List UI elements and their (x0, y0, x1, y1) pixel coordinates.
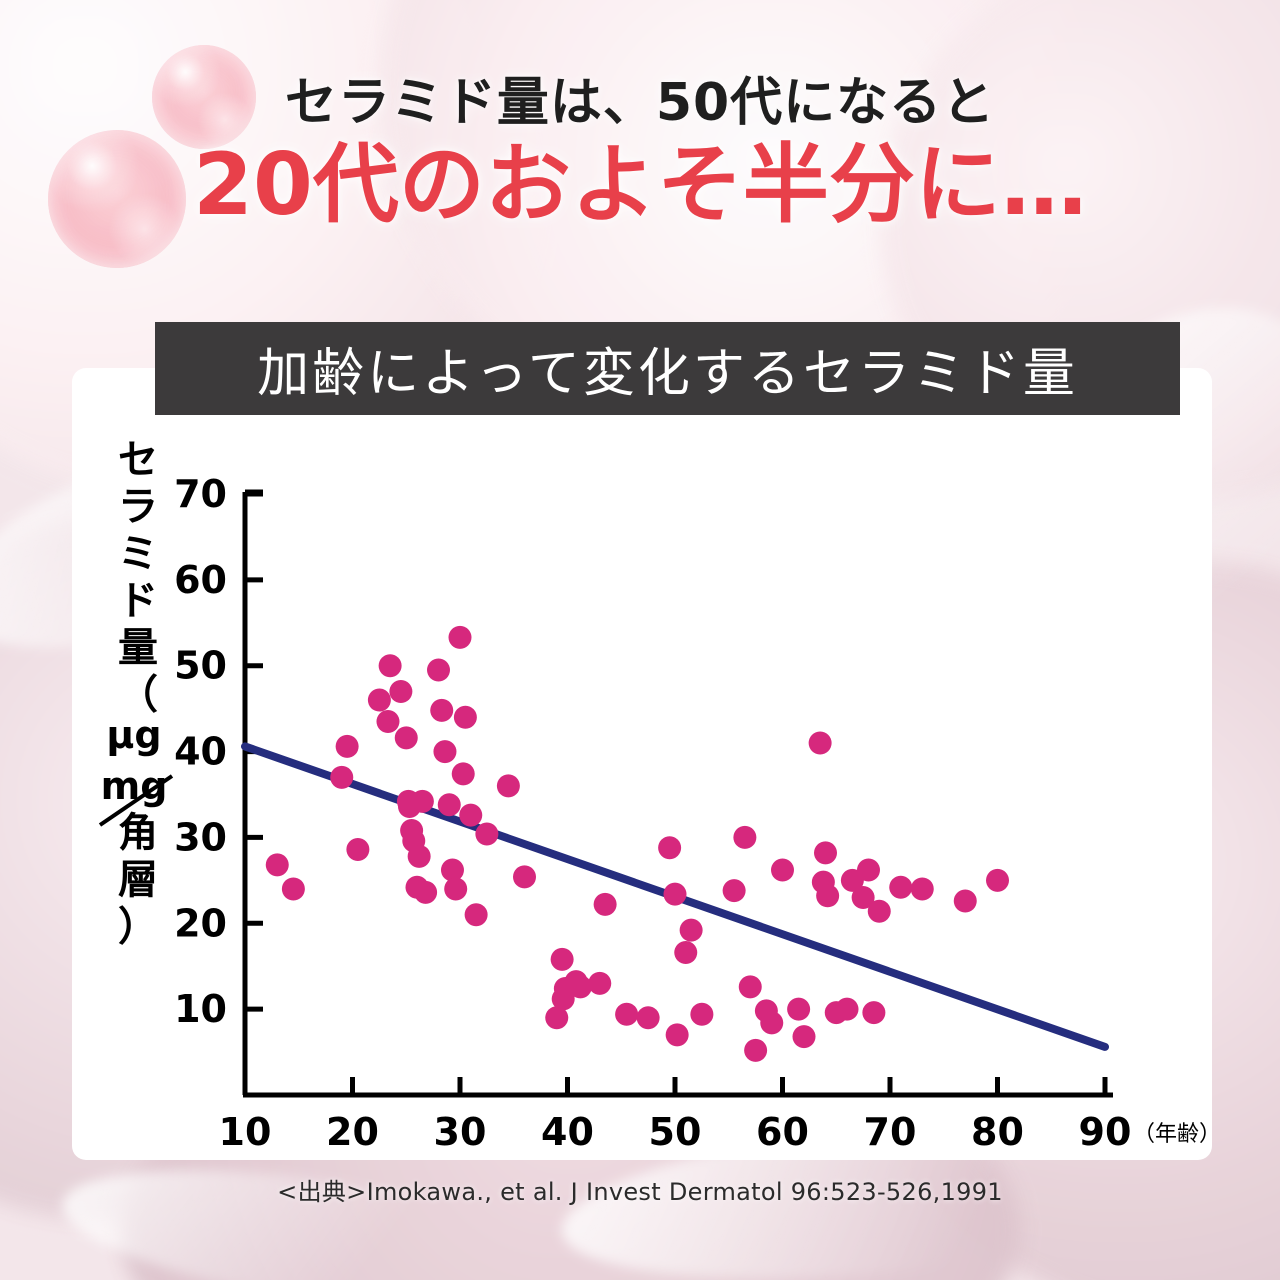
scatter-point (454, 706, 477, 729)
scatter-point (330, 766, 353, 789)
scatter-point (744, 1039, 767, 1062)
scatter-point (658, 836, 681, 859)
x-tick-label-70: 70 (864, 1110, 917, 1154)
scatter-point (666, 1023, 689, 1046)
scatter-point (551, 948, 574, 971)
scatter-point (809, 731, 832, 754)
scatter-point (444, 877, 467, 900)
scatter-point (868, 900, 891, 923)
scatter-point (513, 865, 536, 888)
scatter-point (389, 680, 412, 703)
scatter-point (857, 859, 880, 882)
scatter-point (615, 1003, 638, 1026)
y-tick-label-30: 30 (174, 815, 227, 859)
headline-line-2: 20代のおよそ半分に… (0, 139, 1280, 232)
scatter-point (680, 919, 703, 942)
y-axis-title: セラミド量（μgmg角層） (100, 437, 172, 950)
scatter-point (430, 699, 453, 722)
x-tick-label-90: 90 (1079, 1110, 1132, 1154)
scatter-point (836, 998, 859, 1021)
scatter-point (739, 975, 762, 998)
scatter-point (411, 790, 434, 813)
scatter-point (282, 877, 305, 900)
y-tick-label-10: 10 (174, 987, 227, 1031)
y-tick-label-50: 50 (174, 644, 227, 688)
headline-line-1: セラミド量は、50代になると (0, 76, 1280, 131)
y-tick-label-40: 40 (174, 730, 227, 774)
y-axis-title-char-0: セ (118, 437, 158, 483)
scatter-point (664, 883, 687, 906)
scatter-point (395, 726, 418, 749)
scatter-point (427, 659, 450, 682)
x-tick-label-40: 40 (541, 1110, 594, 1154)
x-axis-unit-label: （年齢） (1133, 1122, 1212, 1147)
scatter-point (459, 804, 482, 827)
scatter-point (787, 998, 810, 1021)
scatter-point (452, 762, 475, 785)
y-axis-title-char-9: 層 (118, 857, 158, 903)
scatter-point (336, 735, 359, 758)
scatter-point (954, 889, 977, 912)
y-axis-title-char-1: ラ (118, 484, 158, 530)
scatter-point (408, 845, 431, 868)
scatter-point (569, 975, 592, 998)
headline-block: セラミド量は、50代になると 20代のおよそ半分に… (0, 76, 1280, 231)
scatter-point (266, 853, 289, 876)
y-tick-label-70: 70 (174, 472, 227, 516)
scatter-point (346, 838, 369, 861)
y-axis-title-char-2: ミ (118, 531, 158, 577)
x-tick-label-50: 50 (649, 1110, 702, 1154)
scatter-point (816, 884, 839, 907)
scatter-point (760, 1011, 783, 1034)
scatter-point (497, 774, 520, 797)
scatter-point (594, 893, 617, 916)
y-axis-title-char-10: ） (118, 904, 158, 950)
scatter-point (814, 841, 837, 864)
scatter-point (379, 654, 402, 677)
y-axis-title-char-8: 角 (118, 810, 158, 856)
scatter-point (433, 740, 456, 763)
scatter-point (690, 1003, 713, 1026)
scatter-point (723, 879, 746, 902)
scatter-point (637, 1006, 660, 1029)
scatter-plot-svg: 10203040506070102030405060708090（年齢）セラミド… (72, 368, 1212, 1160)
scatter-point (414, 881, 437, 904)
x-tick-label-20: 20 (326, 1110, 379, 1154)
scatter-point (986, 869, 1009, 892)
scatter-chart: 10203040506070102030405060708090（年齢）セラミド… (72, 368, 1212, 1160)
scatter-point (911, 877, 934, 900)
x-tick-label-10: 10 (219, 1110, 272, 1154)
x-tick-label-30: 30 (434, 1110, 487, 1154)
y-axis-title-char-6: μg (106, 713, 161, 757)
scatter-point (793, 1025, 816, 1048)
scatter-point (674, 941, 697, 964)
y-axis-title-char-4: 量 (118, 625, 158, 671)
scatter-point (889, 876, 912, 899)
scatter-point (438, 793, 461, 816)
scatter-point (449, 626, 472, 649)
y-axis-title-char-3: ド (118, 578, 158, 624)
scatter-point (733, 826, 756, 849)
x-tick-label-60: 60 (756, 1110, 809, 1154)
scatter-points-group (266, 626, 1009, 1062)
scatter-point (475, 822, 498, 845)
y-axis-title-char-5: （ (118, 672, 158, 718)
scatter-point (588, 972, 611, 995)
scatter-point (368, 689, 391, 712)
scatter-point (465, 903, 488, 926)
scatter-point (862, 1001, 885, 1024)
x-tick-label-80: 80 (971, 1110, 1024, 1154)
scatter-point (376, 710, 399, 733)
y-tick-label-20: 20 (174, 901, 227, 945)
scatter-point (771, 859, 794, 882)
source-citation: <出典>Imokawa., et al. J Invest Dermatol 9… (0, 1172, 1280, 1207)
y-tick-label-60: 60 (174, 558, 227, 602)
